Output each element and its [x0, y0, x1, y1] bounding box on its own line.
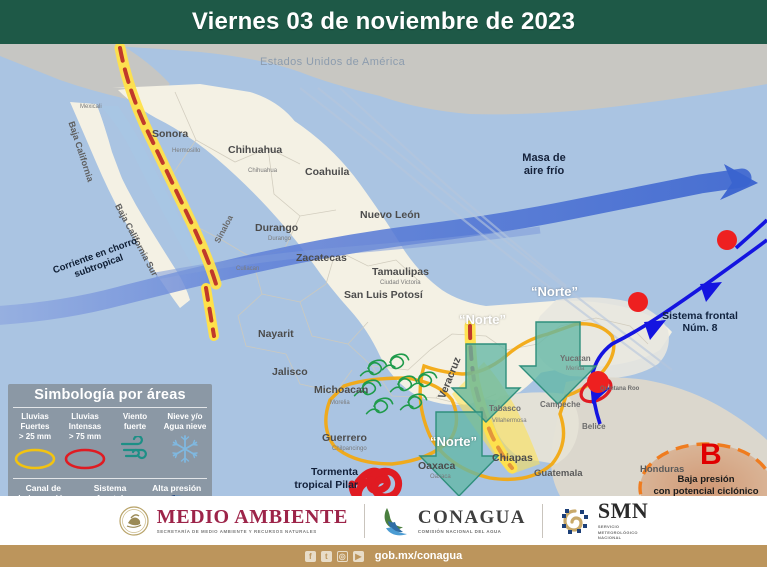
ellipse-yellow-icon	[10, 442, 60, 476]
conagua-subtitle: COMISIÓN NACIONAL DEL AGUA	[418, 529, 526, 534]
facebook-icon[interactable]: f	[305, 551, 316, 562]
medio-ambiente-text: MEDIO AMBIENTE SECRETARÍA DE MEDIO AMBIE…	[157, 507, 348, 534]
legend-item-lluvias-intensas[interactable]: Lluvias Intensas > 75 mm	[60, 412, 110, 476]
ellipse-red-icon	[60, 442, 110, 476]
legend-item-lluvias-fuertes[interactable]: Lluvias Fuertes > 25 mm	[10, 412, 60, 476]
page-title: Viernes 03 de noviembre de 2023	[192, 8, 575, 36]
legend-label-nieve: Nieve y/o Agua nieve	[160, 412, 210, 432]
legend-label-lluvias-fuertes: Lluvias Fuertes > 25 mm	[10, 412, 60, 442]
legend-title: Simbología por áreas	[8, 384, 212, 407]
footer-divider-2	[542, 504, 543, 538]
legend-item-viento-fuerte[interactable]: Viento fuerte	[110, 412, 160, 476]
legend-row-areas: Lluvias Fuertes > 25 mm Lluvias Intensas…	[8, 408, 212, 478]
legend-item-sistema-frontal[interactable]: Sistema frontal	[77, 483, 144, 496]
conagua-text: CONAGUA COMISIÓN NACIONAL DEL AGUA	[418, 508, 526, 534]
smn-name: SMN	[598, 500, 648, 522]
footer-divider-1	[364, 504, 365, 538]
weather-map: Estados Unidos de América Baja Californi…	[0, 44, 767, 496]
smn-text: SMN SERVICIO METEOROLÓGICO NACIONAL	[598, 500, 648, 541]
wind-swirl-icon	[110, 432, 160, 466]
legend-label-alta-presion: Alta presión	[143, 483, 210, 493]
conagua-water-icon	[381, 505, 411, 537]
footer-url[interactable]: gob.mx/conagua	[375, 550, 462, 562]
legend-label-viento-fuerte: Viento fuerte	[110, 412, 160, 432]
smn-spiral-icon	[559, 505, 591, 537]
snowflake-icon	[160, 432, 210, 466]
logo-smn: SMN SERVICIO METEOROLÓGICO NACIONAL	[559, 500, 648, 541]
youtube-icon[interactable]: ▶	[353, 551, 364, 562]
medio-ambiente-subtitle: SECRETARÍA DE MEDIO AMBIENTE Y RECURSOS …	[157, 529, 348, 534]
legend-label-lluvias-intensas: Lluvias Intensas > 75 mm	[60, 412, 110, 442]
instagram-icon[interactable]: ◎	[337, 551, 348, 562]
footer-social-bar: f t ◎ ▶ gob.mx/conagua	[0, 545, 767, 567]
legend-panel: Simbología por áreas Lluvias Fuertes > 2…	[8, 384, 212, 496]
logo-conagua: CONAGUA COMISIÓN NACIONAL DEL AGUA	[381, 505, 526, 537]
logo-medio-ambiente: MEDIO AMBIENTE SECRETARÍA DE MEDIO AMBIE…	[119, 506, 348, 536]
twitter-icon[interactable]: t	[321, 551, 332, 562]
legend-label-sistema-frontal: Sistema frontal	[77, 483, 144, 496]
legend-label-canal-baja-presion: Canal de baja presión	[10, 483, 77, 496]
medio-ambiente-name: MEDIO AMBIENTE	[157, 507, 348, 527]
smn-subtitle: SERVICIO METEOROLÓGICO NACIONAL	[598, 524, 648, 541]
weather-map-page: Viernes 03 de noviembre de 2023	[0, 0, 767, 567]
footer-logos: MEDIO AMBIENTE SECRETARÍA DE MEDIO AMBIE…	[0, 496, 767, 545]
legend-item-alta-presion[interactable]: Alta presión A	[143, 483, 210, 496]
mexico-eagle-seal-icon	[119, 506, 149, 536]
legend-item-nieve[interactable]: Nieve y/o Agua nieve	[160, 412, 210, 476]
legend-row-systems: Canal de baja presión Sistema frontal	[8, 479, 212, 496]
page-header: Viernes 03 de noviembre de 2023	[0, 0, 767, 44]
conagua-name: CONAGUA	[418, 508, 526, 527]
legend-item-canal-baja-presion[interactable]: Canal de baja presión	[10, 483, 77, 496]
